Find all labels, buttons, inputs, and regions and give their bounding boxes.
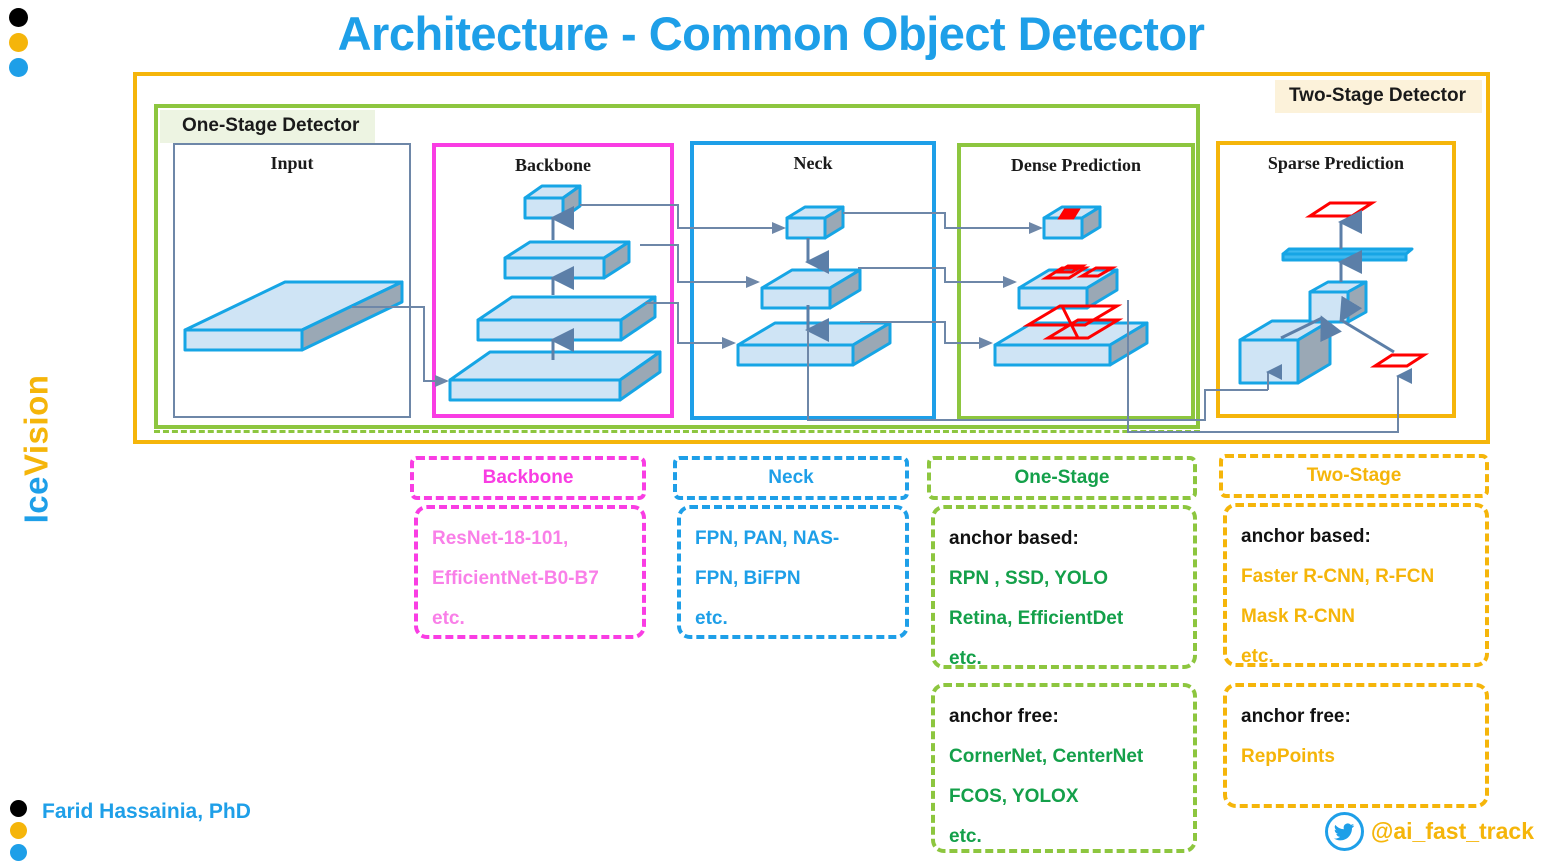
panel-input: Input <box>173 143 411 418</box>
panel-sparse-prediction: Sparse Prediction <box>1216 141 1456 418</box>
twitter-handle-group[interactable]: @ai_fast_track <box>1325 812 1534 851</box>
footer-dot-yellow-icon <box>10 822 27 839</box>
panel-neck-title: Neck <box>694 153 932 174</box>
legend-one-stage-anchor-based-line-2: Retina, EfficientDet <box>949 599 1181 639</box>
legend-one-stage-anchor-based-line-3: etc. <box>949 639 1181 679</box>
legend-one-stage-anchor-free-header: anchor free: <box>949 697 1181 737</box>
legend-backbone-body: ResNet-18-101, EfficientNet-B0-B7 etc. <box>414 505 646 639</box>
page-title: Architecture - Common Object Detector <box>0 6 1542 61</box>
legend-two-stage-anchor-free-header: anchor free: <box>1241 697 1473 737</box>
one-stage-detector-label: One-Stage Detector <box>160 110 375 143</box>
slide-root: IceVision Architecture - Common Object D… <box>0 0 1542 862</box>
legend-neck-line-3: etc. <box>695 599 893 639</box>
panel-input-title: Input <box>175 153 409 174</box>
two-stage-detector-label: Two-Stage Detector <box>1275 80 1482 113</box>
legend-one-stage-anchor-based: anchor based: RPN , SSD, YOLO Retina, Ef… <box>931 505 1197 669</box>
twitter-icon[interactable] <box>1325 812 1364 851</box>
legend-backbone-line-1: ResNet-18-101, <box>432 519 630 559</box>
legend-two-stage-anchor-based-line-1: Faster R-CNN, R-FCN <box>1241 557 1473 597</box>
legend-two-stage-anchor-based-line-3: etc. <box>1241 637 1473 677</box>
panel-backbone-title: Backbone <box>436 155 670 176</box>
panel-dense-prediction: Dense Prediction <box>957 143 1195 420</box>
legend-neck-line-1: FPN, PAN, NAS- <box>695 519 893 559</box>
footer-dot-blue-icon <box>10 844 27 861</box>
panel-backbone: Backbone <box>432 143 674 418</box>
legend-one-stage-anchor-free-line-3: etc. <box>949 817 1181 857</box>
legend-backbone-line-3: etc. <box>432 599 630 639</box>
legend-one-stage-header[interactable]: One-Stage <box>927 456 1197 500</box>
panel-dense-prediction-title: Dense Prediction <box>961 155 1191 176</box>
author-name: Farid Hassainia, PhD <box>42 800 251 824</box>
panel-neck: Neck <box>690 141 936 420</box>
footer-dot-black-icon <box>10 800 27 817</box>
footer-dots <box>10 800 32 866</box>
brand-vision-text: Vision <box>17 375 54 476</box>
legend-one-stage-anchor-free-line-2: FCOS, YOLOX <box>949 777 1181 817</box>
legend-one-stage-anchor-free-line-1: CornerNet, CenterNet <box>949 737 1181 777</box>
legend-one-stage-anchor-based-header: anchor based: <box>949 519 1181 559</box>
legend-backbone-line-2: EfficientNet-B0-B7 <box>432 559 630 599</box>
brand-icevision: IceVision <box>17 375 55 524</box>
legend-one-stage-anchor-based-line-1: RPN , SSD, YOLO <box>949 559 1181 599</box>
panel-sparse-prediction-title: Sparse Prediction <box>1220 153 1452 174</box>
legend-neck-line-2: FPN, BiFPN <box>695 559 893 599</box>
brand-ice-text: Ice <box>17 476 54 523</box>
legend-two-stage-anchor-based: anchor based: Faster R-CNN, R-FCN Mask R… <box>1223 503 1489 667</box>
legend-backbone-header[interactable]: Backbone <box>410 456 646 500</box>
legend-neck-body: FPN, PAN, NAS- FPN, BiFPN etc. <box>677 505 909 639</box>
twitter-handle-text[interactable]: @ai_fast_track <box>1371 818 1534 845</box>
legend-two-stage-anchor-free-line-1: RepPoints <box>1241 737 1473 777</box>
legend-two-stage-header[interactable]: Two-Stage <box>1219 454 1489 498</box>
legend-two-stage-anchor-based-header: anchor based: <box>1241 517 1473 557</box>
legend-neck-header[interactable]: Neck <box>673 456 909 500</box>
legend-one-stage-anchor-free: anchor free: CornerNet, CenterNet FCOS, … <box>931 683 1197 853</box>
legend-two-stage-anchor-free: anchor free: RepPoints <box>1223 683 1489 808</box>
legend-two-stage-anchor-based-line-2: Mask R-CNN <box>1241 597 1473 637</box>
